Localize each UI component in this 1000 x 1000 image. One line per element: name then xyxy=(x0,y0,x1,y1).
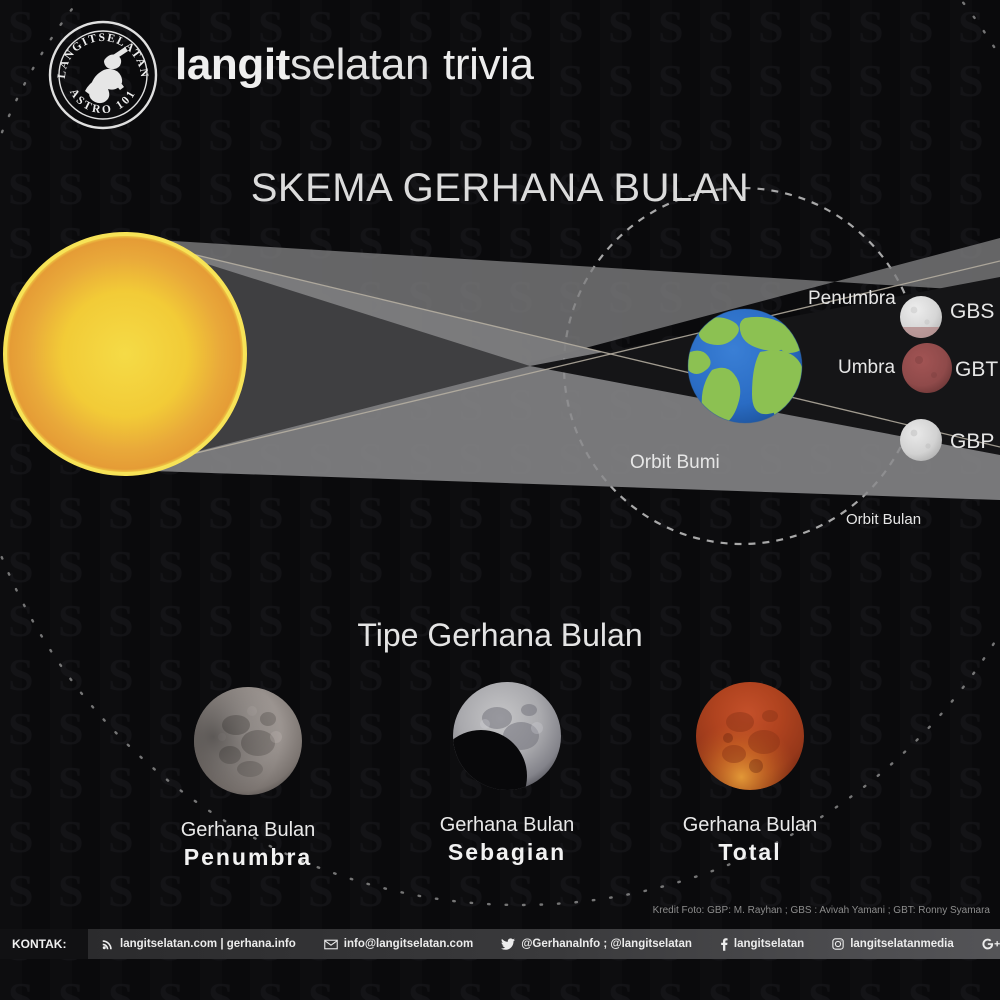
sun-icon xyxy=(5,234,245,474)
rss-icon xyxy=(102,938,114,950)
footer-item-text: langitselatan xyxy=(734,938,804,950)
moon-penumbral-photo xyxy=(192,685,304,797)
label-penumbra: Penumbra xyxy=(808,288,896,310)
twitter-icon xyxy=(501,938,515,950)
moon-caption-line2: Total xyxy=(635,839,865,866)
footer-item-googleplus[interactable]: LangitselatanMedia xyxy=(968,938,1000,950)
label-umbra: Umbra xyxy=(838,357,895,379)
footer-item-twitter[interactable]: @GerhanaInfo ; @langitselatan xyxy=(487,938,706,950)
moon-caption-line1: Gerhana Bulan xyxy=(392,814,622,837)
footer-links-strip: langitselatan.com | gerhana.info info@la… xyxy=(88,929,1000,959)
moon-partial-photo xyxy=(451,680,563,792)
moon-total-photo xyxy=(694,680,806,792)
instagram-icon xyxy=(832,938,844,950)
wordmark-langit: langit xyxy=(175,40,290,89)
horse-rider-emblem xyxy=(85,47,128,103)
footer-item-text: info@langitselatan.com xyxy=(344,938,473,950)
moon-card-sebagian: Gerhana Bulan Sebagian xyxy=(392,680,622,866)
footer-item-website[interactable]: langitselatan.com | gerhana.info xyxy=(88,938,310,950)
label-gbt: GBT xyxy=(955,358,998,382)
footer-item-facebook[interactable]: langitselatan xyxy=(706,938,818,951)
label-orbit-bumi: Orbit Bumi xyxy=(630,452,720,474)
label-orbit-bulan: Orbit Bulan xyxy=(846,511,921,528)
page-title: SKEMA GERHANA BULAN xyxy=(0,166,1000,211)
langitselatan-seal-logo[interactable]: LANGITSELATAN ASTRO 101 xyxy=(47,19,159,131)
footer-item-text: langitselatanmedia xyxy=(850,938,954,950)
moon-card-penumbra: Gerhana Bulan Penumbra xyxy=(133,685,363,871)
section-title-tipe: Tipe Gerhana Bulan xyxy=(0,617,1000,654)
header: LANGITSELATAN ASTRO 101 langitselatantri… xyxy=(0,0,1000,140)
brand-wordmark[interactable]: langitselatantrivia xyxy=(175,40,534,90)
wordmark-trivia: trivia xyxy=(443,40,534,89)
moon-caption-line1: Gerhana Bulan xyxy=(133,819,363,842)
label-gbs: GBS xyxy=(950,300,994,324)
moon-gbp-icon xyxy=(900,419,942,461)
footer-kontak-label: KONTAK: xyxy=(0,929,88,959)
moon-gbt-icon xyxy=(902,343,952,393)
moon-caption-line2: Penumbra xyxy=(133,844,363,871)
footer-item-instagram[interactable]: langitselatanmedia xyxy=(818,938,968,950)
infographic-canvas: S xyxy=(0,0,1000,1000)
label-gbp: GBP xyxy=(950,430,994,454)
footer-item-text: @GerhanaInfo ; @langitselatan xyxy=(521,938,692,950)
moon-caption-line2: Sebagian xyxy=(392,839,622,866)
envelope-icon xyxy=(324,939,338,950)
moon-caption-line1: Gerhana Bulan xyxy=(635,814,865,837)
footer-contact-bar: KONTAK: langitselatan.com | gerhana.info xyxy=(0,929,1000,959)
footer-item-email[interactable]: info@langitselatan.com xyxy=(310,938,487,950)
footer-item-text: langitselatan.com | gerhana.info xyxy=(120,938,296,950)
facebook-icon xyxy=(720,938,728,951)
wordmark-selatan: selatan xyxy=(290,40,429,89)
moon-card-total: Gerhana Bulan Total xyxy=(635,680,865,866)
googleplus-icon xyxy=(982,938,1000,950)
photo-credit: Kredit Foto: GBP: M. Rayhan ; GBS : Aviv… xyxy=(653,905,990,916)
